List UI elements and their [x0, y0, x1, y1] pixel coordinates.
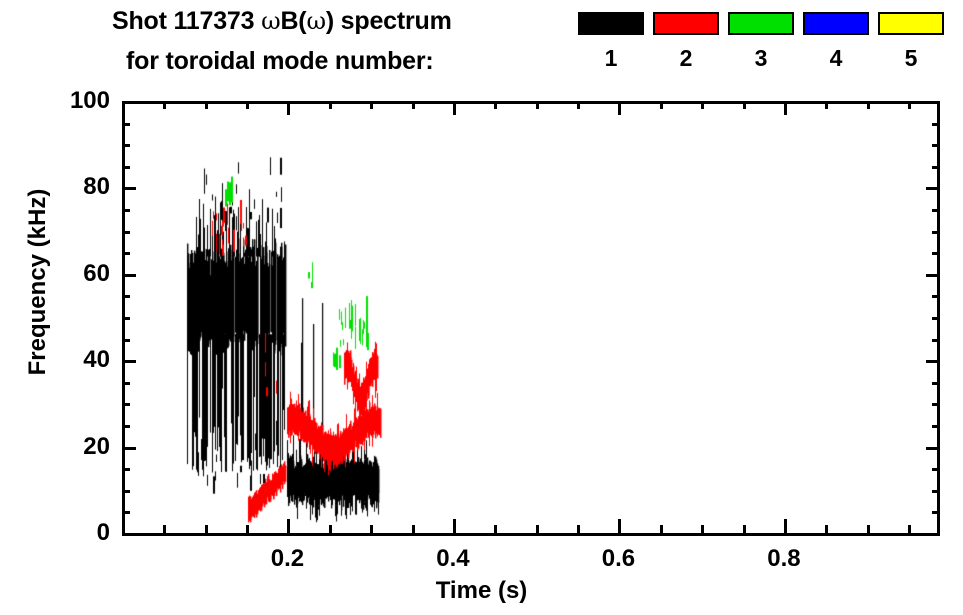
y-tick-right [926, 360, 940, 363]
y-tick-label: 40 [30, 346, 110, 374]
x-tick-top [743, 101, 746, 109]
legend-item-2[interactable]: 2 [653, 12, 719, 70]
y-tick [122, 252, 130, 255]
y-tick [122, 187, 136, 190]
y-tick [122, 447, 136, 450]
x-tick-top [453, 101, 456, 115]
y-tick [122, 231, 130, 234]
y-tick-label: 0 [30, 519, 110, 547]
x-tick-top [329, 101, 332, 109]
x-tick-top [577, 101, 580, 109]
y-tick [122, 511, 130, 514]
x-tick [784, 519, 787, 533]
y-tick [122, 144, 130, 147]
figure-root: Shot 117373 ωB(ω) spectrum for toroidal … [0, 0, 963, 615]
y-tick-right [932, 144, 940, 147]
x-tick-top [205, 101, 208, 109]
x-tick [494, 525, 497, 533]
x-tick-top [784, 101, 787, 115]
y-tick-right [932, 166, 940, 169]
y-tick [122, 382, 130, 385]
legend-swatch-2 [653, 12, 719, 35]
spectrogram-canvas [125, 101, 937, 533]
y-tick-right [932, 339, 940, 342]
chart-title-line-1: Shot 117373 ωB(ω) spectrum [112, 7, 452, 36]
x-tick [701, 525, 704, 533]
title-prefix: Shot 117373 [112, 7, 261, 35]
x-tick-label: 0.4 [408, 545, 498, 573]
y-tick-right [932, 295, 940, 298]
y-tick [122, 166, 130, 169]
x-tick-top [618, 101, 621, 115]
legend-item-3[interactable]: 3 [728, 12, 794, 70]
y-tick [122, 360, 136, 363]
x-tick [825, 525, 828, 533]
x-tick-top [867, 101, 870, 109]
x-tick [287, 519, 290, 533]
x-tick-top [536, 101, 539, 109]
y-tick-right [932, 403, 940, 406]
legend: 12345 [578, 12, 948, 88]
x-tick-label: 0.8 [739, 545, 829, 573]
x-tick [743, 525, 746, 533]
legend-swatch-1 [578, 12, 644, 35]
x-tick-top [370, 101, 373, 109]
chart-title-line-2: for toroidal mode number: [126, 47, 434, 76]
y-tick-right [932, 468, 940, 471]
x-tick-top [660, 101, 663, 109]
y-tick [122, 490, 130, 493]
y-tick [122, 317, 130, 320]
x-axis-label: Time (s) [0, 577, 963, 605]
title-suffix: ) spectrum [326, 7, 452, 35]
x-tick [660, 525, 663, 533]
omega-symbol-2: ω [306, 7, 325, 35]
legend-item-4[interactable]: 4 [803, 12, 869, 70]
y-tick-right [932, 382, 940, 385]
legend-swatch-3 [728, 12, 794, 35]
y-tick-label: 80 [30, 173, 110, 201]
legend-label-3: 3 [728, 47, 794, 70]
legend-swatch-4 [803, 12, 869, 35]
y-tick-right [932, 252, 940, 255]
x-tick-top [701, 101, 704, 109]
y-tick-right [932, 490, 940, 493]
x-tick [536, 525, 539, 533]
x-tick [205, 525, 208, 533]
y-tick [122, 533, 136, 536]
y-tick [122, 274, 136, 277]
legend-label-4: 4 [803, 47, 869, 70]
x-tick-label: 0.2 [242, 545, 332, 573]
legend-item-1[interactable]: 1 [578, 12, 644, 70]
title-mid: B( [280, 7, 306, 35]
legend-label-5: 5 [878, 47, 944, 70]
x-tick-top [163, 101, 166, 109]
x-tick [163, 525, 166, 533]
x-tick [453, 519, 456, 533]
y-tick-right [932, 231, 940, 234]
omega-symbol-1: ω [261, 7, 280, 35]
x-tick-top [287, 101, 290, 115]
legend-label-1: 1 [578, 47, 644, 70]
y-tick-label: 20 [30, 433, 110, 461]
y-tick [122, 209, 130, 212]
y-tick-right [926, 447, 940, 450]
legend-swatch-5 [878, 12, 944, 35]
y-tick-right [926, 274, 940, 277]
y-tick-label: 60 [30, 260, 110, 288]
spectrogram-plot-area [125, 101, 937, 533]
y-tick-right [926, 101, 940, 104]
y-tick-right [932, 425, 940, 428]
y-tick-right [932, 209, 940, 212]
x-tick [618, 519, 621, 533]
y-tick-right [932, 123, 940, 126]
x-tick-top [494, 101, 497, 109]
x-tick-top [908, 101, 911, 109]
y-tick-right [926, 533, 940, 536]
x-tick-label: 0.6 [573, 545, 663, 573]
y-tick-right [932, 317, 940, 320]
y-tick [122, 123, 130, 126]
y-tick [122, 295, 130, 298]
x-tick-top [246, 101, 249, 109]
x-tick [329, 525, 332, 533]
y-tick [122, 403, 130, 406]
y-tick [122, 339, 130, 342]
y-tick [122, 468, 130, 471]
y-tick-right [932, 511, 940, 514]
y-tick [122, 425, 130, 428]
x-tick-top [412, 101, 415, 109]
x-tick [370, 525, 373, 533]
x-axis-line [122, 533, 940, 536]
x-tick [908, 525, 911, 533]
legend-label-2: 2 [653, 47, 719, 70]
x-tick [246, 525, 249, 533]
x-tick [412, 525, 415, 533]
y-tick-label: 100 [30, 87, 110, 115]
legend-item-5[interactable]: 5 [878, 12, 944, 70]
y-tick-right [926, 187, 940, 190]
x-tick-top [825, 101, 828, 109]
x-tick [577, 525, 580, 533]
x-tick [867, 525, 870, 533]
y-tick [122, 101, 136, 104]
